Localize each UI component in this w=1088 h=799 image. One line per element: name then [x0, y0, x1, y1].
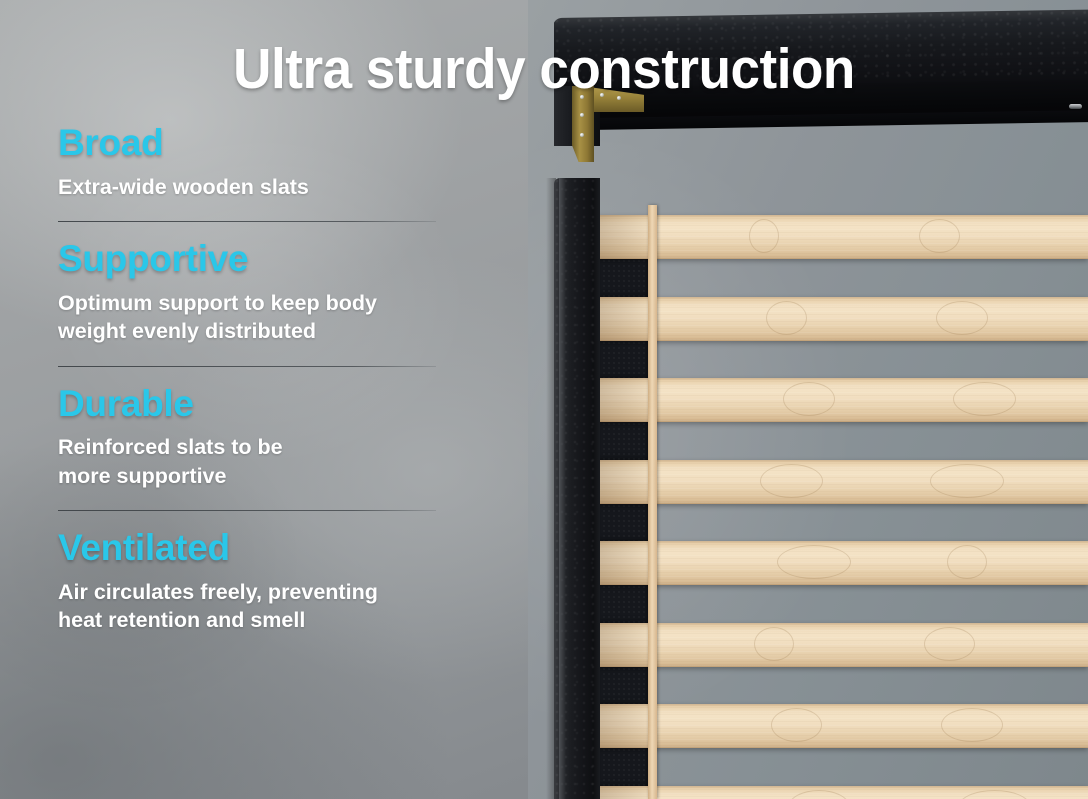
- mesh-fabric-strip: [597, 667, 653, 704]
- screw-icon: [1069, 104, 1082, 109]
- feature-heading: Supportive: [58, 240, 436, 278]
- side-rail-left: [554, 178, 600, 799]
- wood-knot: [953, 382, 1016, 416]
- mesh-fabric-strip: [597, 259, 653, 297]
- feature-item-ventilated: Ventilated Air circulates freely, preven…: [58, 529, 436, 634]
- mesh-fabric-strip: [597, 422, 653, 460]
- wood-knot: [947, 545, 987, 579]
- wooden-slat: [590, 541, 1088, 585]
- feature-description: Reinforced slats to be more supportive: [58, 433, 436, 490]
- wooden-slat: [590, 297, 1088, 341]
- mesh-fabric-strip: [597, 341, 653, 378]
- wood-grain: [590, 704, 1088, 748]
- wood-knot: [930, 464, 1004, 498]
- feature-description: Optimum support to keep body weight even…: [58, 289, 436, 346]
- feature-description: Air circulates freely, preventing heat r…: [58, 578, 436, 635]
- wood-knot: [777, 545, 851, 579]
- feature-description: Extra-wide wooden slats: [58, 173, 436, 201]
- feature-item-broad: Broad Extra-wide wooden slats: [58, 124, 436, 201]
- product-photo: [528, 0, 1088, 799]
- wood-knot: [783, 382, 835, 416]
- feature-divider: [58, 366, 436, 367]
- wood-knot: [941, 708, 1003, 742]
- wood-grain: [590, 623, 1088, 667]
- mesh-fabric-strip: [597, 585, 653, 623]
- wooden-slat: [590, 704, 1088, 748]
- rivet-icon: [580, 113, 584, 117]
- wood-support-strip: [648, 205, 657, 799]
- wooden-slat: [590, 623, 1088, 667]
- wooden-slat: [590, 786, 1088, 799]
- wooden-slat: [590, 378, 1088, 422]
- wood-grain: [590, 460, 1088, 504]
- feature-item-supportive: Supportive Optimum support to keep body …: [58, 240, 436, 345]
- feature-divider: [58, 510, 436, 511]
- promo-banner: Ultra sturdy construction Broad Extra-wi…: [0, 0, 1088, 799]
- rail-highlight: [559, 178, 566, 799]
- wood-knot: [936, 301, 988, 335]
- feature-item-durable: Durable Reinforced slats to be more supp…: [58, 385, 436, 490]
- mesh-fabric-strip: [597, 748, 653, 786]
- wood-knot: [771, 708, 822, 742]
- wood-knot: [760, 464, 823, 498]
- wood-grain: [590, 297, 1088, 341]
- rivet-icon: [580, 133, 584, 137]
- feature-divider: [58, 221, 436, 222]
- wood-knot: [919, 219, 960, 253]
- feature-list: Broad Extra-wide wooden slats Supportive…: [58, 124, 436, 635]
- feature-heading: Ventilated: [58, 529, 436, 567]
- page-title: Ultra sturdy construction: [38, 36, 1050, 102]
- wood-knot: [924, 627, 975, 661]
- feature-heading: Broad: [58, 124, 436, 162]
- feature-heading: Durable: [58, 385, 436, 423]
- mesh-fabric-strip: [597, 504, 653, 541]
- wooden-slat: [590, 460, 1088, 504]
